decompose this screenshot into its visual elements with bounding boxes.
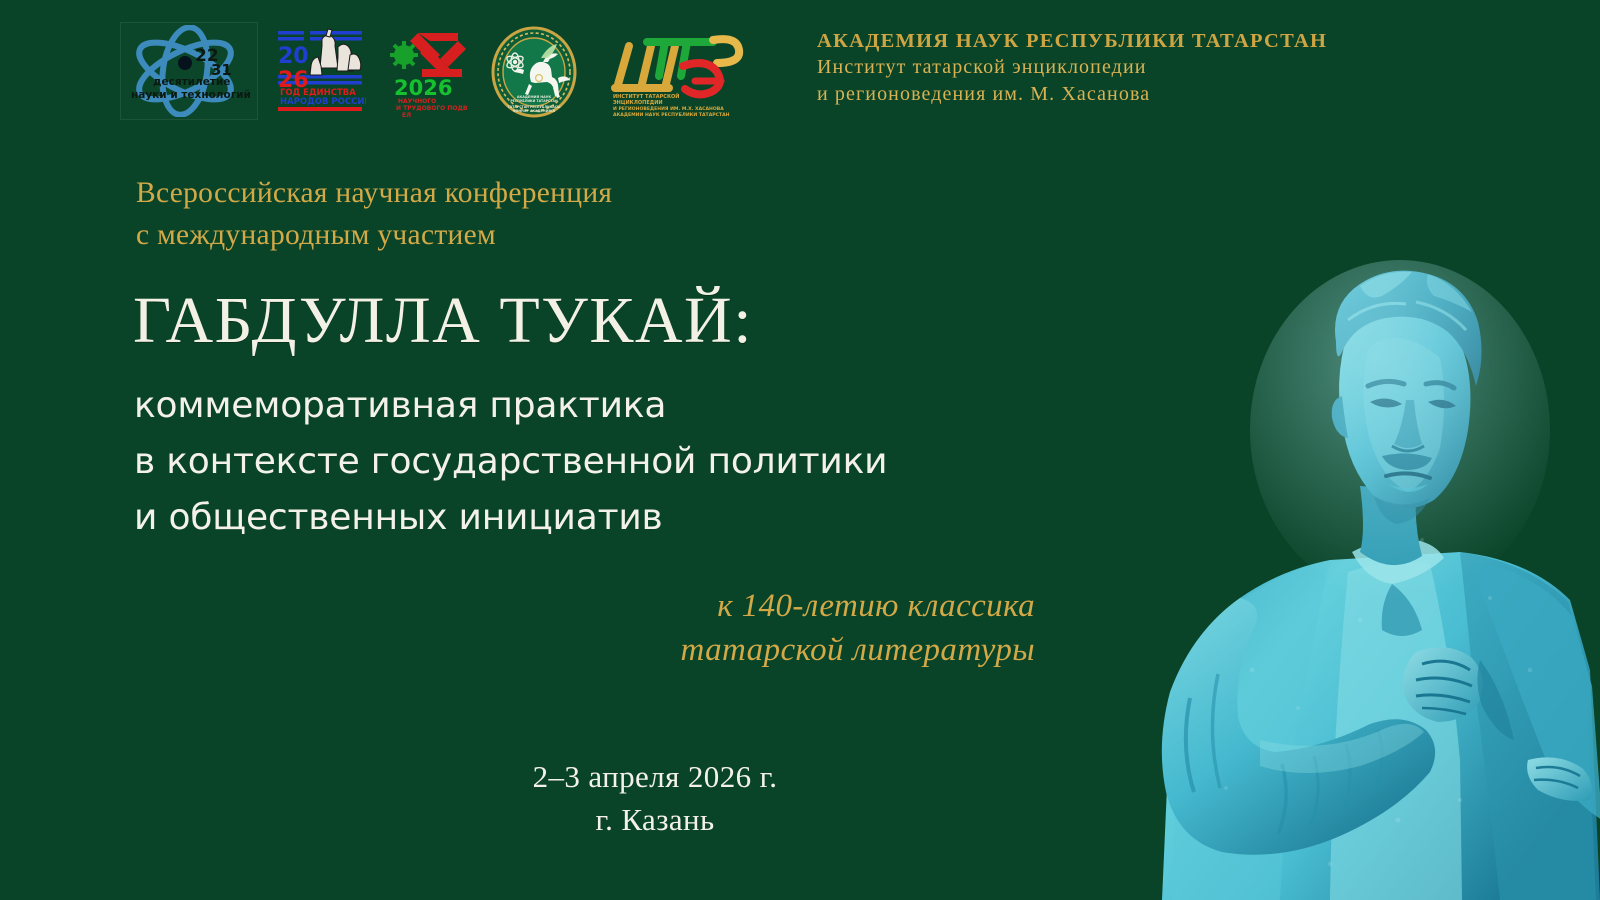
event-details: 2–3 апреля 2026 г. г. Казань (330, 755, 980, 841)
subtitle-line-3: и общественных инициатив (134, 490, 1064, 546)
subtitle-line-2: в контексте государственной политики (134, 434, 1064, 490)
year-2026-caption-3: ЕЛ (402, 112, 411, 119)
event-dates: 2–3 апреля 2026 г. (330, 755, 980, 798)
year-2026-icon: 2026 НАУЧНОГО И ТРУДОВОГО ПОДВИГА ЕЛ (388, 25, 468, 119)
institute-monogram-icon: ИНСТИТУТ ТАТАРСКОЙ ЭНЦИКЛОПЕДИИ И РЕГИОН… (603, 26, 751, 118)
conference-subtitle: коммеморативная практика в контексте гос… (134, 378, 1064, 546)
year-2026-caption-1: НАУЧНОГО (398, 98, 436, 105)
org-institute-line1: Институт татарской энциклопедии (817, 54, 1457, 81)
statue-illustration (1040, 200, 1600, 900)
logo-year-of-unity: 20 26 ГОД ЕДИНСТВА НАРОДОВ РОССИИ (272, 22, 368, 122)
logo-year-2026: 2026 НАУЧНОГО И ТРУДОВОГО ПОДВИГА ЕЛ (386, 22, 470, 122)
year-of-unity-icon: 20 26 ГОД ЕДИНСТВА НАРОДОВ РОССИИ (274, 27, 366, 117)
org-academy-name: АКАДЕМИЯ НАУК РЕСПУБЛИКИ ТАТАРСТАН (817, 28, 1457, 54)
academy-caption-4: ФӘННӘР АКАДЕМИЯСЕ (513, 109, 556, 113)
year-2026-caption-2: И ТРУДОВОГО ПОДВИГА (396, 105, 468, 112)
logo-decade-of-science: 22 31 десятилетие науки и технологий (120, 22, 258, 120)
anniversary-line-1: к 140-летию классика (300, 584, 1035, 628)
institute-caption-4: АКАДЕМИИ НАУК РЕСПУБЛИКИ ТАТАРСТАН (613, 112, 730, 118)
conference-kicker: Всероссийская научная конференция с межд… (136, 172, 896, 256)
institute-caption-3: И РЕГИОНОВЕДЕНИЯ ИМ. М.Х. ХАСАНОВА (613, 106, 724, 112)
tukay-statue-image (1040, 200, 1600, 900)
academy-emblem-icon: АКАДЕМИЯ НАУК РЕСПУБЛИКИ ТАТАРСТАН ТАТАР… (491, 26, 577, 118)
org-institute-line2: и регионоведения им. М. Хасанова (817, 81, 1457, 108)
institute-caption-1: ИНСТИТУТ ТАТАРСКОЙ (613, 92, 679, 100)
kicker-line-1: Всероссийская научная конференция (136, 172, 896, 214)
subtitle-line-1: коммеморативная практика (134, 378, 1064, 434)
year-2026-value: 2026 (394, 76, 452, 100)
decade-caption-1: десятилетие (153, 76, 230, 88)
organization-block: АКАДЕМИЯ НАУК РЕСПУБЛИКИ ТАТАРСТАН Инсти… (817, 28, 1457, 107)
anniversary-note: к 140-летию классика татарской литератур… (300, 584, 1035, 672)
decade-caption-2: науки и технологий (131, 89, 251, 101)
logo-institute-tatar-encyclopedia: ИНСТИТУТ ТАТАРСКОЙ ЭНЦИКЛОПЕДИИ И РЕГИОН… (602, 22, 752, 122)
conference-poster: 22 31 десятилетие науки и технологий 20 … (0, 0, 1600, 900)
decade-of-science-icon: 22 31 десятилетие науки и технологий (123, 25, 255, 117)
page-title: ГАБДУЛЛА ТУКАЙ: (133, 281, 753, 361)
logo-academy-of-sciences: АКАДЕМИЯ НАУК РЕСПУБЛИКИ ТАТАРСТАН ТАТАР… (488, 22, 580, 122)
academy-caption-2: РЕСПУБЛИКИ ТАТАРСТАН (510, 99, 558, 103)
event-city: г. Казань (330, 798, 980, 841)
logo-bar: 22 31 десятилетие науки и технологий 20 … (120, 22, 752, 122)
unity-year-top: 20 (278, 44, 309, 69)
anniversary-line-2: татарской литературы (300, 628, 1035, 672)
unity-caption-2: НАРОДОВ РОССИИ (280, 97, 366, 107)
institute-caption-2: ЭНЦИКЛОПЕДИИ (613, 100, 663, 106)
kicker-line-2: с международным участием (136, 214, 896, 256)
